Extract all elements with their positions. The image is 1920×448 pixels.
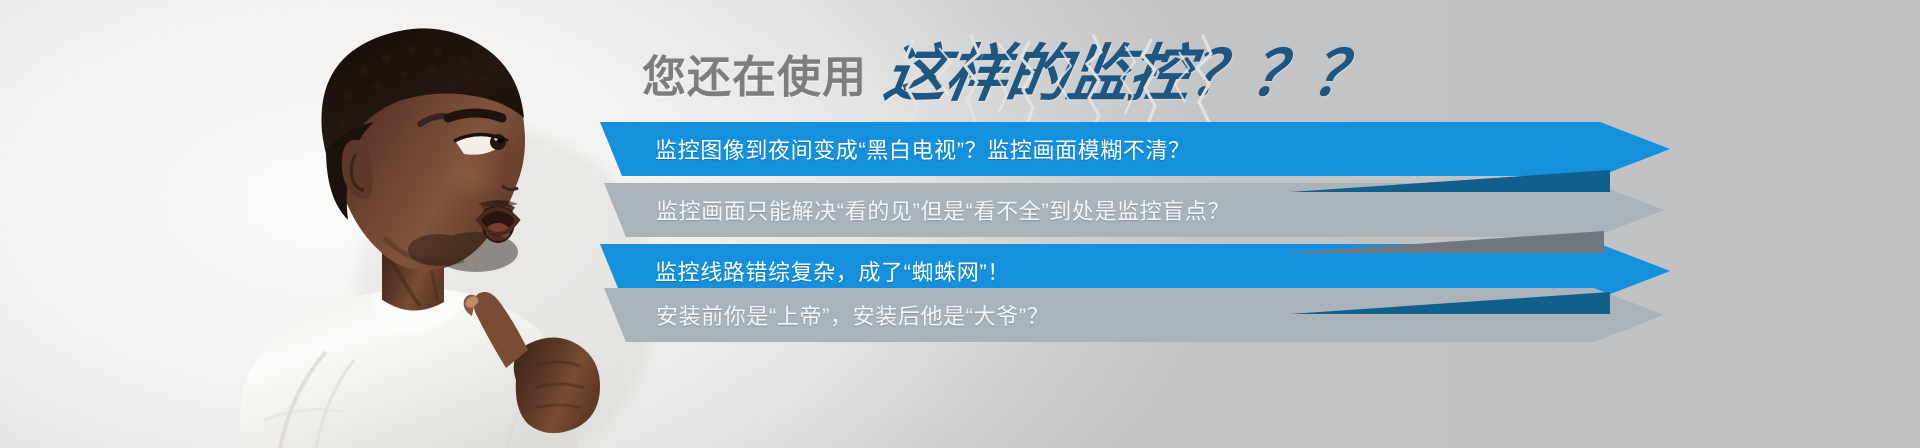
person-photo [176, 0, 656, 448]
promo-banner: 您还在使用 这样的监控？？？ [0, 0, 1920, 448]
headline-plain-text: 您还在使用 [642, 56, 867, 106]
bar-fold-2 [1284, 231, 1604, 253]
feature-bar-4-label: 安装前你是“上帝”，安装后他是“大爷”？ [656, 299, 1049, 331]
feature-bar-1[interactable]: 监控图像到夜间变成“黑白电视”？监控画面模糊不清？ [600, 122, 1670, 176]
headline: 您还在使用 这样的监控？？？ [642, 26, 1373, 106]
bar-fold-1 [1290, 170, 1610, 192]
feature-bar-3-label: 监控线路错综复杂，成了“蜘蛛网”！ [655, 255, 1010, 287]
feature-bar-2-label: 监控画面只能解决“看的见”但是“看不全”到处是监控盲点？ [656, 194, 1230, 226]
feature-bar-1-label: 监控图像到夜间变成“黑白电视”？监控画面模糊不清？ [655, 133, 1191, 165]
headline-accent: 这样的监控？？？ [885, 44, 1373, 106]
headline-accent-text: 这样的监控？？？ [880, 44, 1378, 106]
bar-fold-3 [1290, 292, 1610, 314]
